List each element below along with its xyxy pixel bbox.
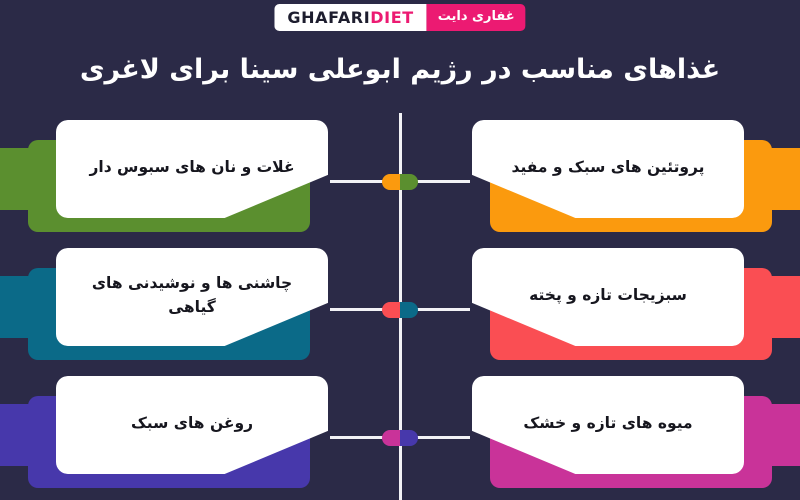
junction-pill-right-half: [382, 302, 400, 318]
row-junction-pill: [382, 302, 418, 318]
card-label: پروتئین های سبک و مفید: [494, 155, 722, 179]
junction-pill-left-half: [400, 302, 418, 318]
infographic-canvas: غفاری دایت GHAFARIDIET غذاهای مناسب در ر…: [0, 0, 800, 500]
brand-logo: غفاری دایت GHAFARIDIET: [274, 4, 525, 31]
card-label: غلات و نان های سبوس دار: [78, 155, 306, 179]
card-left[interactable]: روغن های سبک: [0, 374, 400, 495]
logo-wordmark: GHAFARIDIET: [274, 4, 426, 31]
card-label: چاشنی ها و نوشیدنی های گیاهی: [78, 271, 306, 319]
card-rows: غلات و نان های سبوس دار پروتئین های سبک …: [0, 118, 800, 500]
row-junction-pill: [382, 174, 418, 190]
junction-pill-right-half: [382, 430, 400, 446]
logo-wordmark-diet: DIET: [370, 8, 413, 27]
card-right[interactable]: سبزیجات تازه و پخته: [400, 246, 800, 367]
card-label: میوه های تازه و خشک: [494, 411, 722, 435]
card-right[interactable]: پروتئین های سبک و مفید: [400, 118, 800, 239]
card-left[interactable]: غلات و نان های سبوس دار: [0, 118, 400, 239]
junction-pill-right-half: [382, 174, 400, 190]
junction-pill-left-half: [400, 430, 418, 446]
card-left[interactable]: چاشنی ها و نوشیدنی های گیاهی: [0, 246, 400, 367]
row-junction-pill: [382, 430, 418, 446]
junction-pill-left-half: [400, 174, 418, 190]
card-label: روغن های سبک: [78, 411, 306, 435]
logo-wordmark-ghafari: GHAFARI: [287, 8, 370, 27]
card-right[interactable]: میوه های تازه و خشک: [400, 374, 800, 495]
card-label: سبزیجات تازه و پخته: [494, 283, 722, 307]
logo-badge-farsi: غفاری دایت: [427, 4, 526, 31]
page-title: غذاهای مناسب در رژیم ابوعلی سینا برای لا…: [0, 52, 800, 87]
